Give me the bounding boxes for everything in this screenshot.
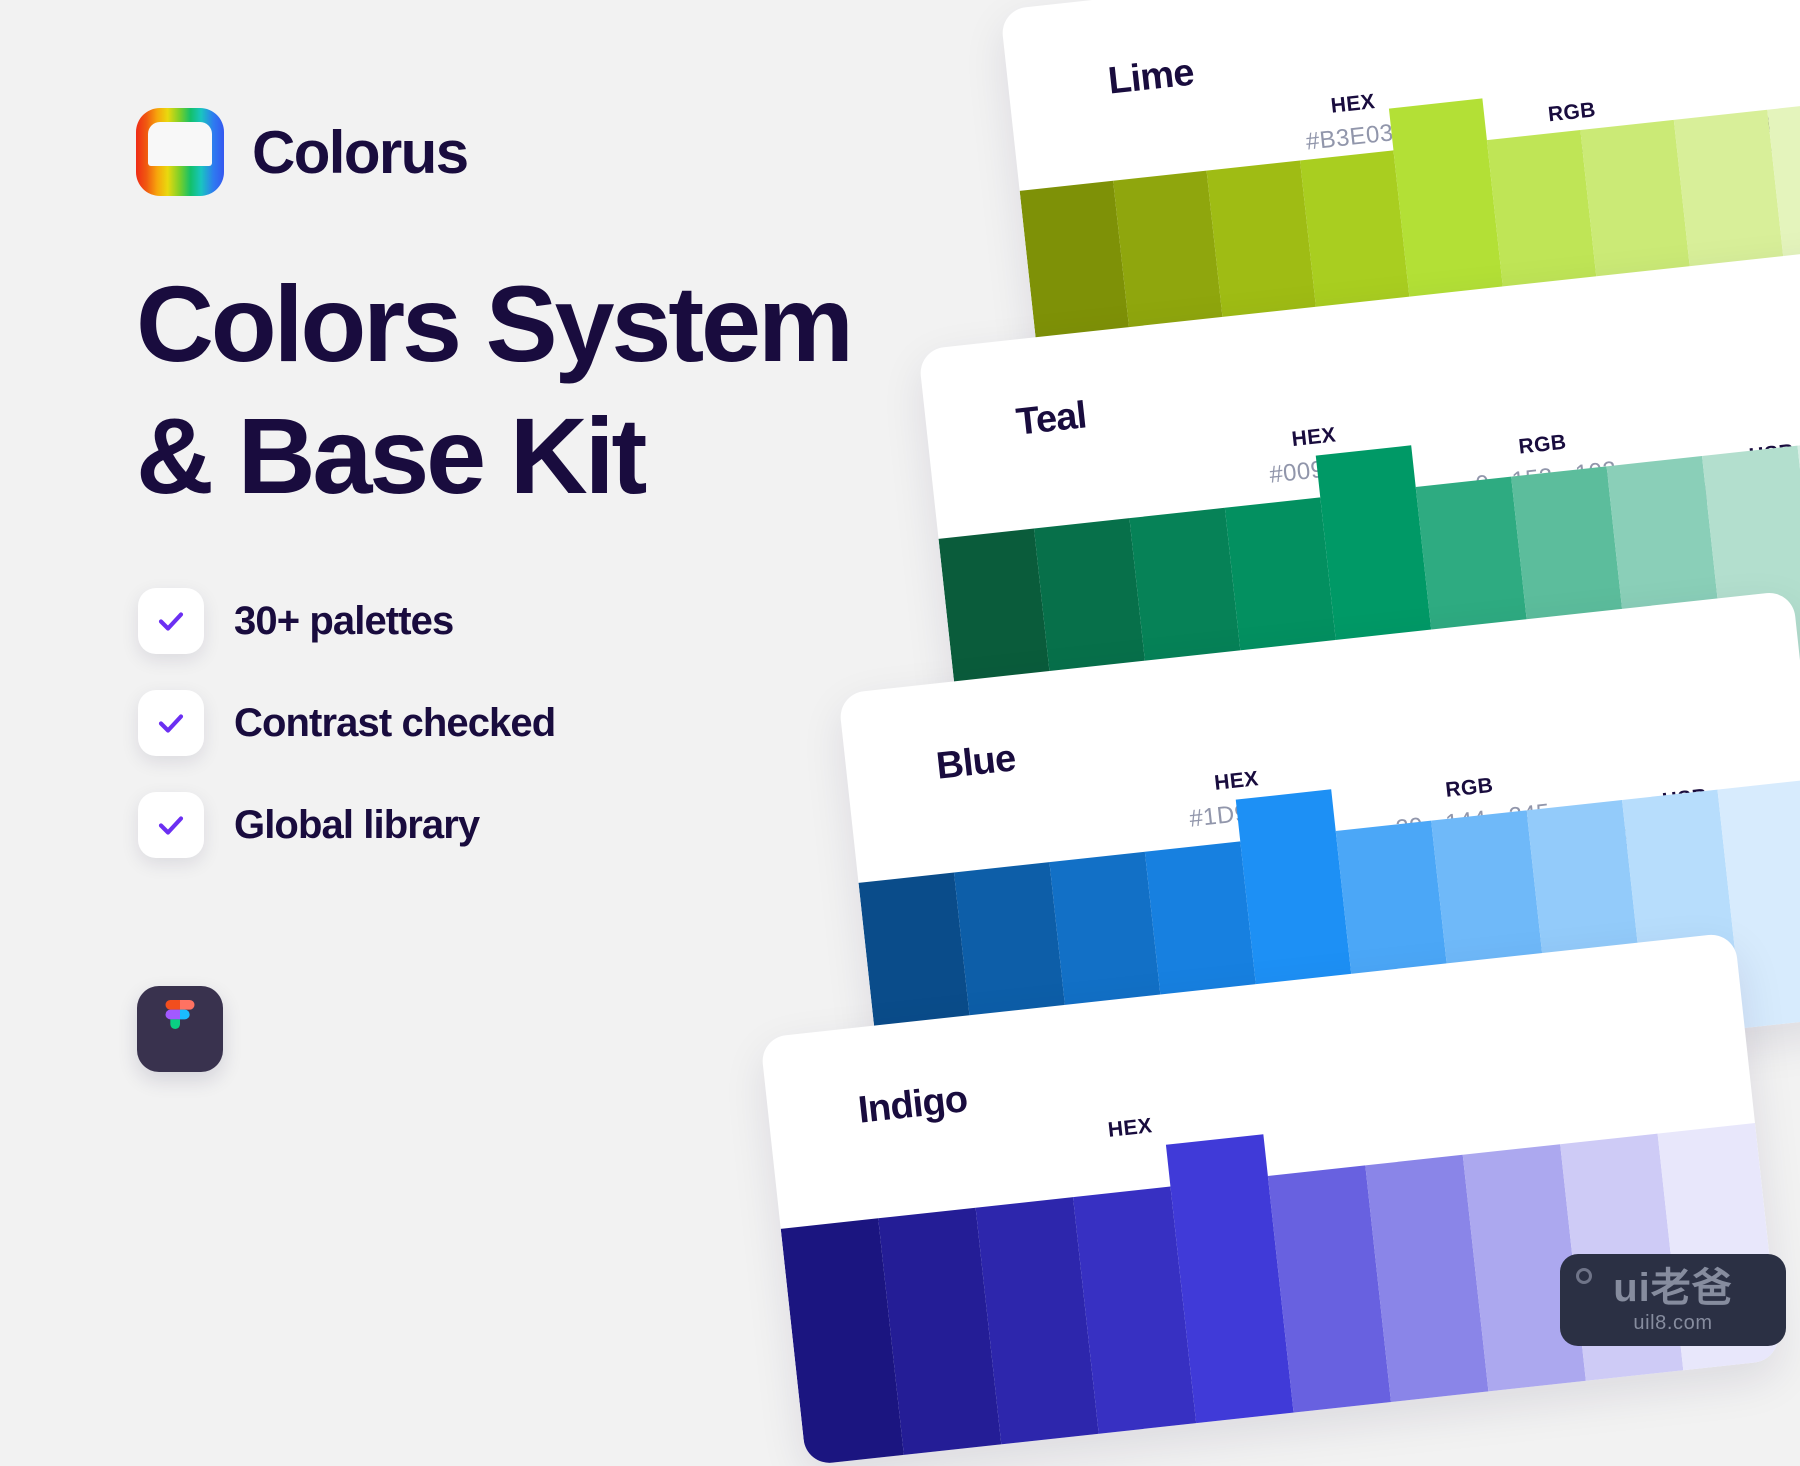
swatch-dot-icon [1046,1447,1058,1459]
feature-item: 30+ palettes [138,588,555,654]
watermark: ui老爸 uil8.com [1560,1254,1786,1346]
watermark-dot-icon [1576,1268,1592,1284]
feature-list: 30+ palettes Contrast checked Global lib… [138,588,555,894]
feature-item: Contrast checked [138,690,555,756]
brand-row: Colorus [136,108,467,196]
swatch-dot-icon [1435,1405,1447,1417]
swatch-dot-icon [1338,1416,1350,1428]
watermark-main: ui老爸 [1613,1268,1733,1308]
hero-left-column: Colorus Colors System & Base Kit 30+ pal… [136,0,956,1360]
feature-label: 30+ palettes [234,599,453,644]
check-icon [138,588,204,654]
meta-label-hex: HEX [1185,764,1289,799]
swatch-dot-icon [1727,1373,1739,1385]
check-icon [138,690,204,756]
colorus-rainbow-icon [136,108,224,196]
swatch-dot-icon [1240,1426,1252,1438]
swatch-dot-icon [1787,1031,1799,1043]
swatch-dot-icon [1630,1384,1642,1396]
swatch-dot-icon [1533,1394,1545,1406]
check-icon [138,792,204,858]
page-title: Colors System & Base Kit [136,258,851,522]
logo-notch [148,122,212,166]
palette-title-teal: Teal [1014,394,1088,444]
palette-title-lime: Lime [1106,52,1196,104]
swatch-dot-icon [1143,1437,1155,1449]
feature-label: Contrast checked [234,701,555,746]
meta-label-hex: HEX [1265,421,1363,455]
meta-label-hex: HEX [1107,1114,1154,1143]
brand-name: Colorus [252,118,467,187]
meta-hex-indigo: HEX [1107,1114,1154,1150]
feature-item: Global library [138,792,555,858]
figma-icon[interactable] [137,986,223,1072]
feature-label: Global library [234,803,479,848]
swatch-dot-icon [948,1458,960,1466]
watermark-sub: uil8.com [1633,1313,1712,1333]
